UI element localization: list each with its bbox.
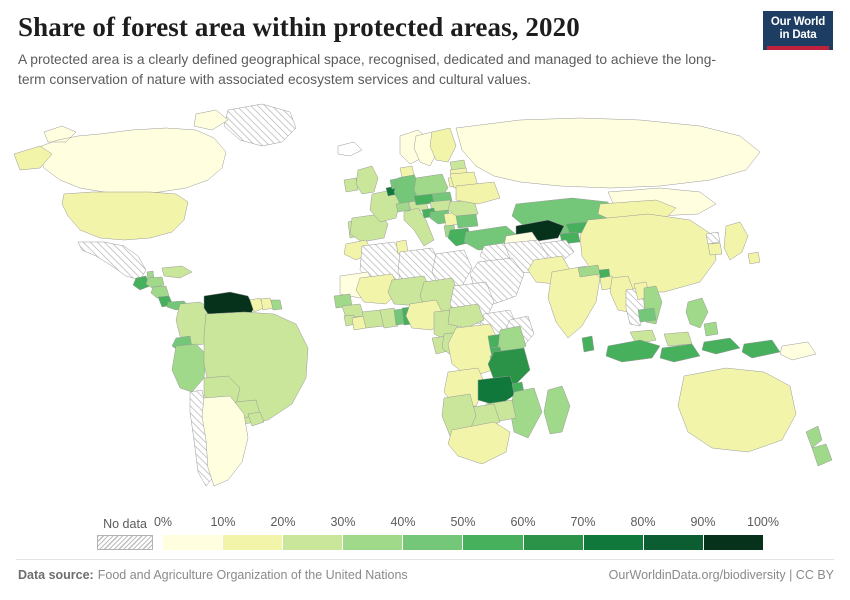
country-canada[interactable] xyxy=(36,110,228,194)
map-legend: No data 0%10%20%30%40%50%60%70%80%90%100… xyxy=(0,505,850,553)
country-switzerland[interactable] xyxy=(396,202,410,212)
chart-header: Share of forest area within protected ar… xyxy=(18,12,748,89)
country-peru[interactable] xyxy=(172,344,206,392)
legend-bin-50-60%[interactable] xyxy=(463,535,523,550)
legend-tick-80pct: 80% xyxy=(630,515,655,529)
country-papua-new-guinea[interactable] xyxy=(780,342,816,360)
country-central-african-republic[interactable] xyxy=(448,304,484,328)
legend-tick-40pct: 40% xyxy=(390,515,415,529)
country-bulgaria[interactable] xyxy=(456,214,478,228)
legend-tick-70pct: 70% xyxy=(570,515,595,529)
country-south-korea[interactable] xyxy=(708,243,722,255)
country-india[interactable] xyxy=(548,266,600,338)
country-denmark[interactable] xyxy=(400,166,414,177)
legend-bin-0-10%[interactable] xyxy=(163,535,223,550)
owid-logo[interactable]: Our World in Data xyxy=(763,11,833,50)
legend-bin-70-80%[interactable] xyxy=(584,535,644,550)
legend-no-data-swatch[interactable] xyxy=(97,535,153,550)
legend-tick-50pct: 50% xyxy=(450,515,475,529)
country-iceland[interactable] xyxy=(338,142,362,156)
legend-tick-labels: 0%10%20%30%40%50%60%70%80%90%100% xyxy=(163,515,763,533)
country-madagascar[interactable] xyxy=(544,386,570,434)
country-ukraine[interactable] xyxy=(456,182,500,204)
logo-accent-bar xyxy=(767,46,829,50)
legend-bin-60-70%[interactable] xyxy=(524,535,584,550)
country-indonesia[interactable] xyxy=(606,338,780,362)
country-greenland[interactable] xyxy=(224,104,296,146)
country-french-guiana[interactable] xyxy=(271,300,282,310)
legend-tick-90pct: 90% xyxy=(690,515,715,529)
country-australia[interactable] xyxy=(678,368,796,452)
legend-bin-90-100%[interactable] xyxy=(704,535,763,550)
country-philippines[interactable] xyxy=(686,298,718,336)
legend-tick-20pct: 20% xyxy=(270,515,295,529)
legend-no-data-label: No data xyxy=(95,517,155,531)
page-title: Share of forest area within protected ar… xyxy=(18,12,748,43)
country-russia[interactable] xyxy=(456,118,760,216)
country-cambodia[interactable] xyxy=(638,308,656,322)
logo-line-1: Our World xyxy=(767,16,829,29)
legend-bin-40-50%[interactable] xyxy=(403,535,463,550)
country-sri-lanka[interactable] xyxy=(582,336,594,352)
legend-tick-0pct: 0% xyxy=(154,515,172,529)
country-united-kingdom[interactable] xyxy=(356,166,378,194)
country-japan[interactable] xyxy=(724,222,760,264)
world-map-svg[interactable] xyxy=(0,96,850,496)
country-ireland[interactable] xyxy=(344,178,358,192)
countries-layer xyxy=(14,104,832,486)
legend-color-scale[interactable] xyxy=(163,535,763,550)
choropleth-map[interactable] xyxy=(0,96,850,496)
legend-tick-10pct: 10% xyxy=(210,515,235,529)
legend-bin-10-20%[interactable] xyxy=(223,535,283,550)
chart-subtitle: A protected area is a clearly defined ge… xyxy=(18,50,724,89)
country-north-korea[interactable] xyxy=(706,232,720,244)
footer-attribution[interactable]: OurWorldinData.org/biodiversity | CC BY xyxy=(609,568,834,582)
footer-source-value: Food and Agriculture Organization of the… xyxy=(98,568,408,582)
legend-tick-100pct: 100% xyxy=(747,515,779,529)
legend-bin-30-40%[interactable] xyxy=(343,535,403,550)
footer-divider xyxy=(16,559,834,560)
footer-source: Data source: Food and Agriculture Organi… xyxy=(18,568,408,582)
country-new-zealand[interactable] xyxy=(806,426,832,466)
legend-tick-30pct: 30% xyxy=(330,515,355,529)
country-mexico[interactable] xyxy=(78,242,146,280)
country-cuba[interactable] xyxy=(162,266,192,278)
legend-bin-20-30%[interactable] xyxy=(283,535,343,550)
chart-footer: Data source: Food and Agriculture Organi… xyxy=(18,568,834,582)
logo-line-2: in Data xyxy=(767,29,829,42)
footer-source-label: Data source: xyxy=(18,568,94,582)
legend-tick-60pct: 60% xyxy=(510,515,535,529)
legend-bin-80-90%[interactable] xyxy=(644,535,704,550)
